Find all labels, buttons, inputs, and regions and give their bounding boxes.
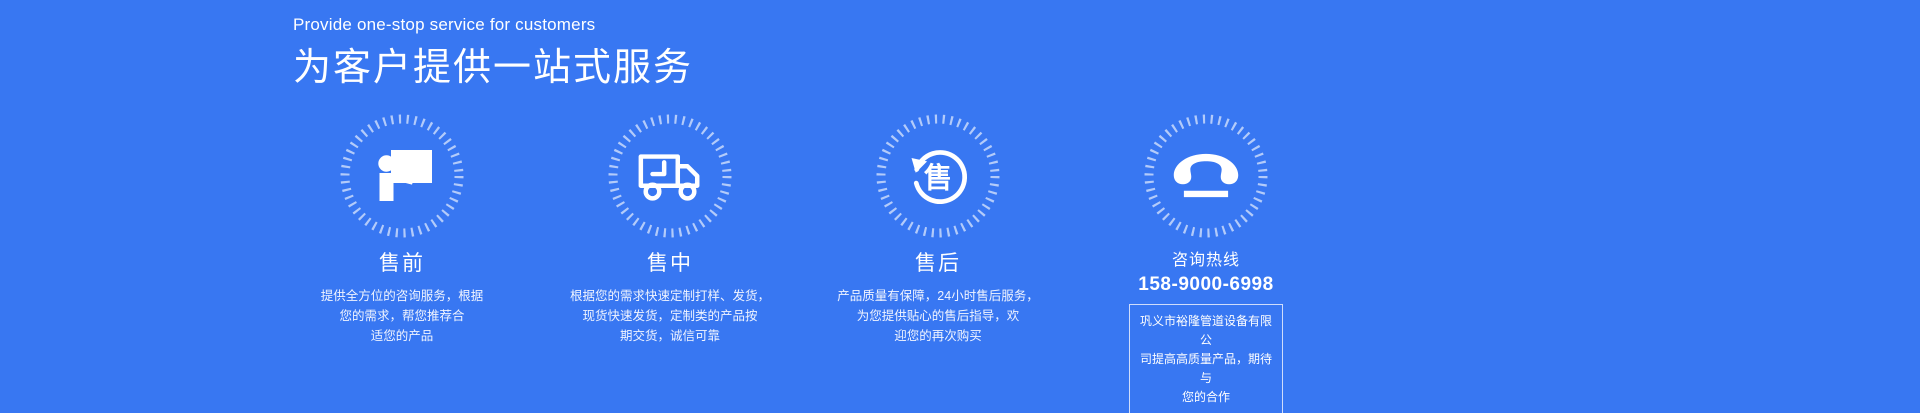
company-line: 司提高高质量产品，期待与: [1140, 350, 1272, 388]
column-description: 根据您的需求快速定制打样、发货， 现货快速发货，定制类的产品按 期交货，诚信可靠: [555, 286, 785, 346]
after-sales-refresh-icon: 售: [903, 141, 973, 211]
desc-line: 提供全方位的咨询服务，根据: [287, 286, 517, 306]
desc-line: 产品质量有保障，24小时售后服务，: [823, 286, 1053, 306]
service-column-hotline[interactable]: 咨询热线 158-9000-6998 巩义市裕隆管道设备有限公 司提高高质量产品…: [1072, 112, 1340, 413]
telephone-icon: [1171, 141, 1241, 211]
desc-line: 您的需求，帮您推荐合: [287, 306, 517, 326]
icon-ring-aftersale: 售: [874, 112, 1002, 240]
eyebrow-text: Provide one-stop service for customers: [293, 14, 693, 36]
hotline-number[interactable]: 158-9000-6998: [1138, 273, 1273, 297]
delivery-truck-clock-icon: [635, 141, 705, 211]
desc-line: 迎您的再次购买: [823, 326, 1053, 346]
column-description: 产品质量有保障，24小时售后服务， 为您提供贴心的售后指导，欢 迎您的再次购买: [823, 286, 1053, 346]
company-info-box: 巩义市裕隆管道设备有限公 司提高高质量产品，期待与 您的合作: [1129, 304, 1283, 413]
svg-text:售: 售: [924, 162, 952, 194]
service-column-insale[interactable]: 售中 根据您的需求快速定制打样、发货， 现货快速发货，定制类的产品按 期交货，诚…: [536, 112, 804, 413]
service-banner: Provide one-stop service for customers 为…: [0, 0, 1920, 413]
service-columns: 售前 提供全方位的咨询服务，根据 您的需求，帮您推荐合 适您的产品: [268, 112, 1558, 413]
desc-line: 为您提供贴心的售后指导，欢: [823, 306, 1053, 326]
heading-block: Provide one-stop service for customers 为…: [293, 14, 693, 91]
desc-line: 根据您的需求快速定制打样、发货，: [555, 286, 785, 306]
desc-line: 现货快速发货，定制类的产品按: [555, 306, 785, 326]
service-column-presale[interactable]: 售前 提供全方位的咨询服务，根据 您的需求，帮您推荐合 适您的产品: [268, 112, 536, 413]
icon-ring-hotline: [1142, 112, 1270, 240]
column-description: 提供全方位的咨询服务，根据 您的需求，帮您推荐合 适您的产品: [287, 286, 517, 346]
presenter-whiteboard-icon: [367, 141, 437, 211]
company-line: 巩义市裕隆管道设备有限公: [1140, 312, 1272, 350]
desc-line: 适您的产品: [287, 326, 517, 346]
icon-ring-presale: [338, 112, 466, 240]
desc-line: 期交货，诚信可靠: [555, 326, 785, 346]
icon-ring-insale: [606, 112, 734, 240]
hotline-title: 咨询热线: [1172, 250, 1240, 272]
column-title: 售前: [379, 250, 425, 278]
column-title: 售后: [915, 250, 961, 278]
company-line: 您的合作: [1140, 388, 1272, 407]
service-column-aftersale[interactable]: 售 售后 产品质量有保障，24小时售后服务， 为您提供贴心的售后指导，欢 迎您的…: [804, 112, 1072, 413]
page-title: 为客户提供一站式服务: [293, 45, 693, 91]
column-title: 售中: [647, 250, 693, 278]
